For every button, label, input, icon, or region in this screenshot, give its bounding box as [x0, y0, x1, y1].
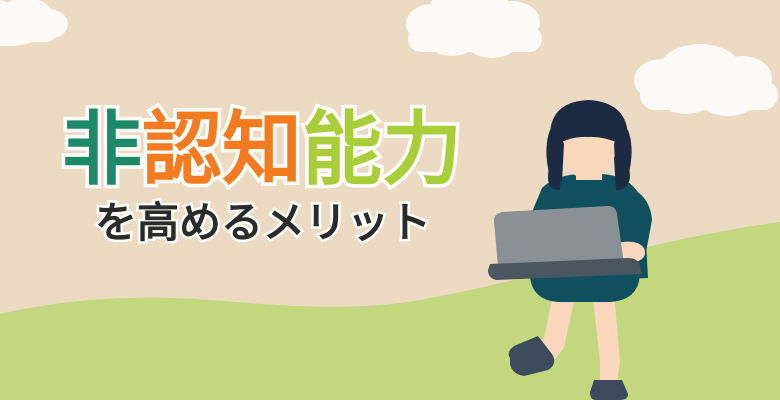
shoe-back [590, 380, 628, 400]
woman-with-laptop-illustration [480, 96, 710, 400]
cloud-center-icon [406, 0, 542, 58]
laptop-screen [494, 206, 624, 268]
leg-back [592, 292, 620, 388]
hero-banner: 非 認 知 能 力 を高めるメリット [0, 0, 780, 400]
